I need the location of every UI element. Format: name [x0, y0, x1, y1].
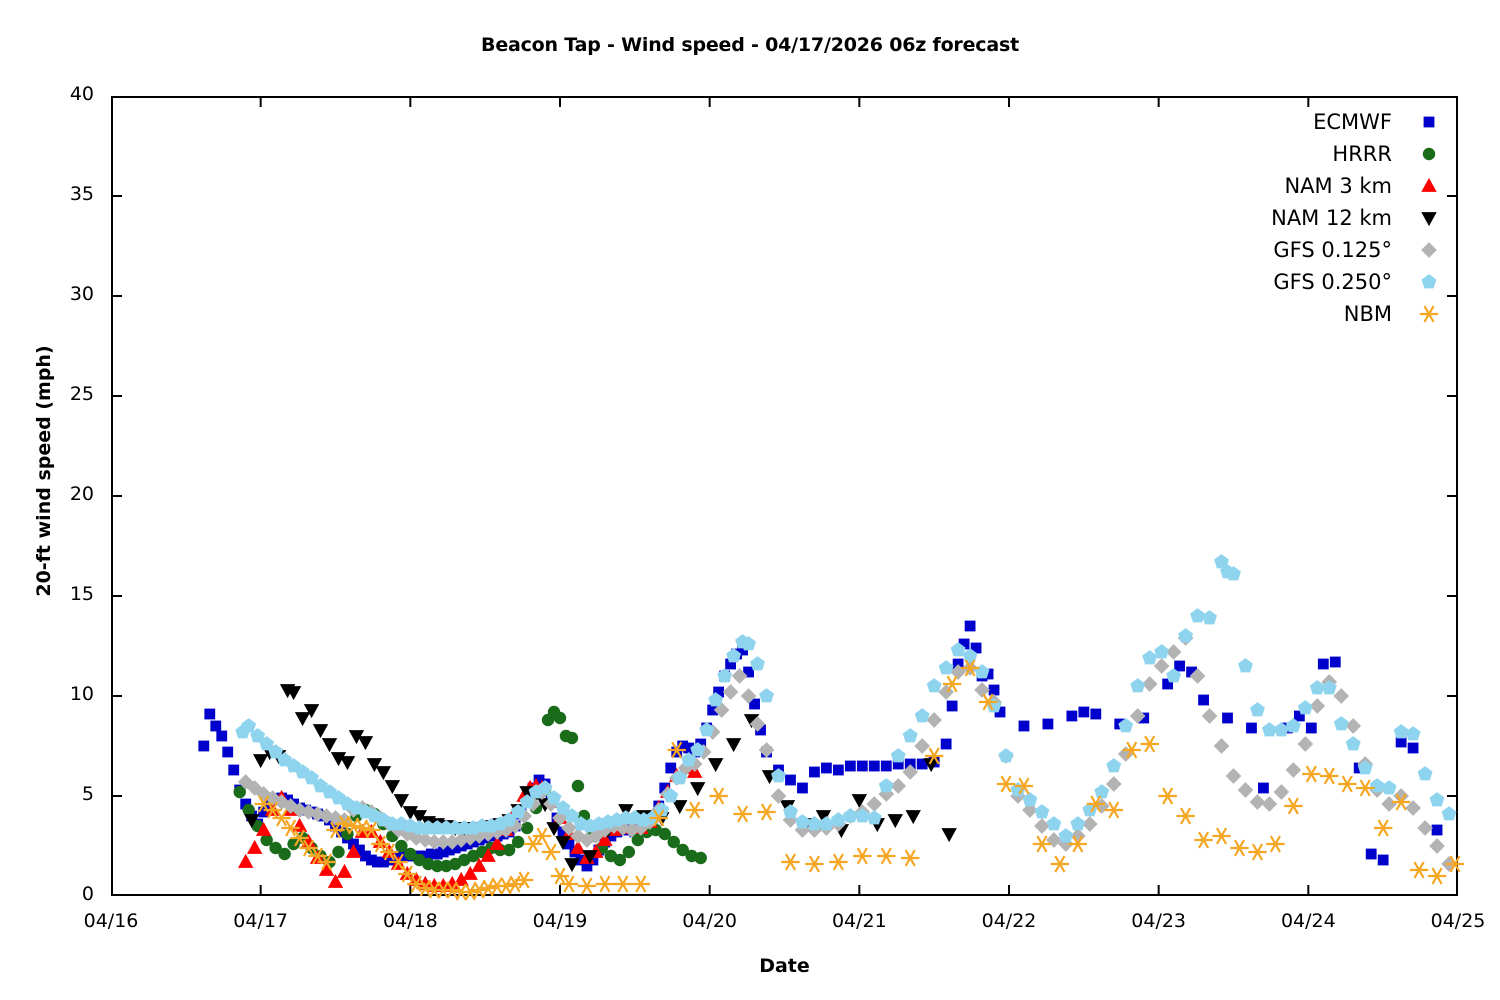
x-tick-label: 04/23: [1099, 910, 1219, 932]
legend-marker-circle-icon: [1418, 143, 1440, 165]
legend-marker-triangle-up-icon: [1418, 175, 1440, 197]
legend-item-gfs-0-125[interactable]: GFS 0.125°: [1150, 234, 1440, 266]
x-tick-label: 04/24: [1248, 910, 1368, 932]
legend-label: NBM: [1344, 302, 1418, 326]
y-tick-label: 40: [8, 83, 94, 105]
x-tick-label: 04/16: [51, 910, 171, 932]
legend-label: GFS 0.125°: [1273, 238, 1418, 262]
x-tick-label: 04/19: [500, 910, 620, 932]
x-tick-label: 04/20: [650, 910, 770, 932]
y-tick-label: 5: [8, 783, 94, 805]
y-tick-label: 10: [8, 683, 94, 705]
legend-marker-asterisk-icon: [1418, 303, 1440, 325]
legend-item-gfs-0-250[interactable]: GFS 0.250°: [1150, 266, 1440, 298]
x-axis-title: Date: [111, 955, 1458, 977]
legend-item-nam-3-km[interactable]: NAM 3 km: [1150, 170, 1440, 202]
legend-marker-pentagon-icon: [1418, 271, 1440, 293]
legend-label: NAM 12 km: [1271, 206, 1418, 230]
legend-item-hrrr[interactable]: HRRR: [1150, 138, 1440, 170]
data-point-layer: [198, 554, 1464, 900]
legend-label: HRRR: [1332, 142, 1418, 166]
legend-label: NAM 3 km: [1284, 174, 1418, 198]
chart-screenshot: Beacon Tap - Wind speed - 04/17/2026 06z…: [0, 0, 1500, 1000]
legend-item-nam-12-km[interactable]: NAM 12 km: [1150, 202, 1440, 234]
y-axis-title: 20-ft wind speed (mph): [33, 301, 55, 641]
chart-legend: ECMWFHRRRNAM 3 kmNAM 12 kmGFS 0.125°GFS …: [1150, 106, 1440, 330]
x-tick-label: 04/21: [799, 910, 919, 932]
y-tick-label: 0: [8, 883, 94, 905]
legend-marker-triangle-down-icon: [1418, 207, 1440, 229]
y-tick-label: 35: [8, 183, 94, 205]
series-gfs-0-125: [238, 630, 1457, 872]
x-tick-label: 04/22: [949, 910, 1069, 932]
legend-item-ecmwf[interactable]: ECMWF: [1150, 106, 1440, 138]
legend-marker-square-icon: [1418, 111, 1440, 133]
series-gfs-0-250: [235, 554, 1456, 842]
series-ecmwf: [198, 621, 1442, 872]
legend-label: GFS 0.250°: [1273, 270, 1418, 294]
legend-label: ECMWF: [1313, 110, 1418, 134]
x-tick-label: 04/17: [201, 910, 321, 932]
legend-marker-diamond-icon: [1418, 239, 1440, 261]
x-tick-label: 04/18: [350, 910, 470, 932]
legend-item-nbm[interactable]: NBM: [1150, 298, 1440, 330]
x-tick-label: 04/25: [1398, 910, 1500, 932]
